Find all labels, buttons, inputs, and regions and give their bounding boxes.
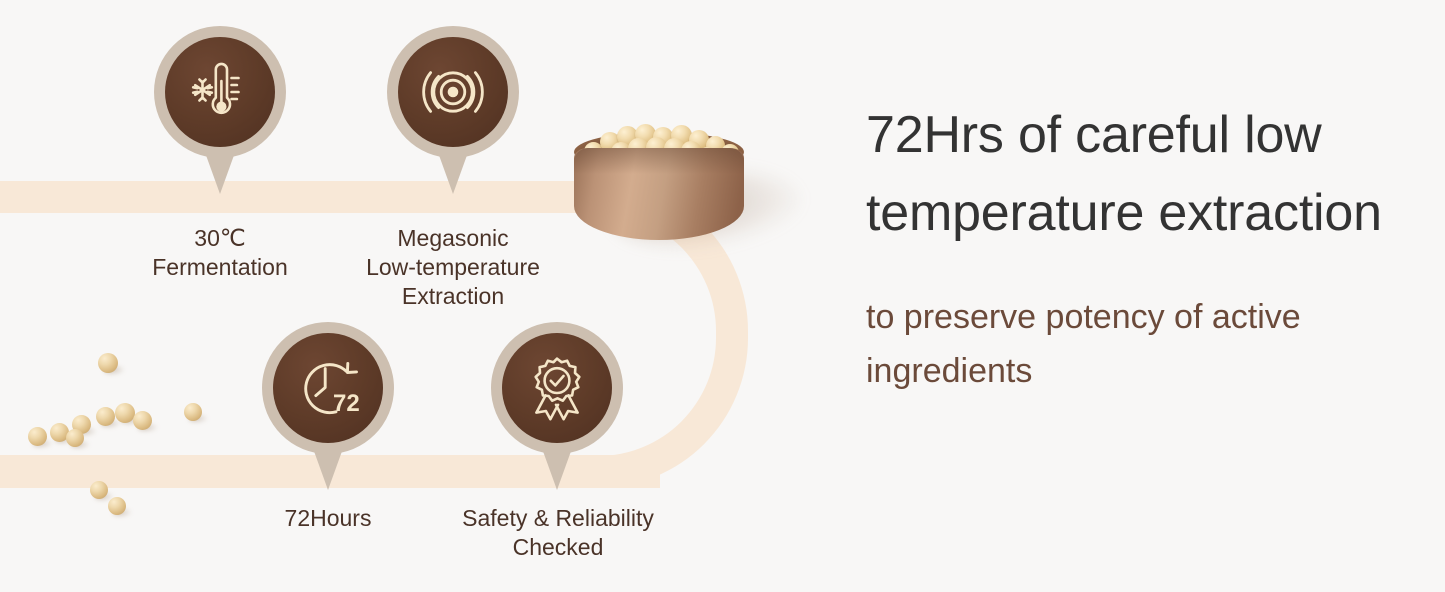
subheadline: to preserve potency of active ingredient… — [866, 290, 1406, 399]
marketing-copy: 72Hrs of careful low temperature extract… — [866, 96, 1406, 399]
process-label-megasonic: Megasonic Low-temperature Extraction — [340, 224, 566, 311]
process-pin-duration[interactable]: 72 — [262, 322, 394, 498]
pin-disc — [398, 37, 508, 147]
process-pin-fermentation[interactable] — [154, 26, 286, 202]
process-label-duration: 72Hours — [218, 504, 438, 533]
clock-72-icon: 72 — [289, 349, 367, 427]
bowl-body — [574, 148, 744, 240]
soybean-bowl-image — [560, 108, 760, 248]
pin-disc — [165, 37, 275, 147]
headline: 72Hrs of careful low temperature extract… — [866, 96, 1406, 252]
thermometer-snowflake-icon — [183, 55, 257, 129]
clock-icon-value: 72 — [333, 390, 360, 417]
award-badge-check-icon — [520, 351, 594, 425]
pin-disc: 72 — [273, 333, 383, 443]
process-label-fermentation: 30℃ Fermentation — [110, 224, 330, 282]
process-pin-safety[interactable] — [491, 322, 623, 498]
process-label-safety: Safety & Reliability Checked — [434, 504, 682, 562]
promo-banner: 30℃ Fermentation Megasonic Low-temperatu… — [0, 0, 1445, 592]
pin-disc — [502, 333, 612, 443]
process-pin-megasonic[interactable] — [387, 26, 519, 202]
sonic-waves-icon — [416, 55, 490, 129]
scattered-soybeans — [20, 345, 250, 525]
